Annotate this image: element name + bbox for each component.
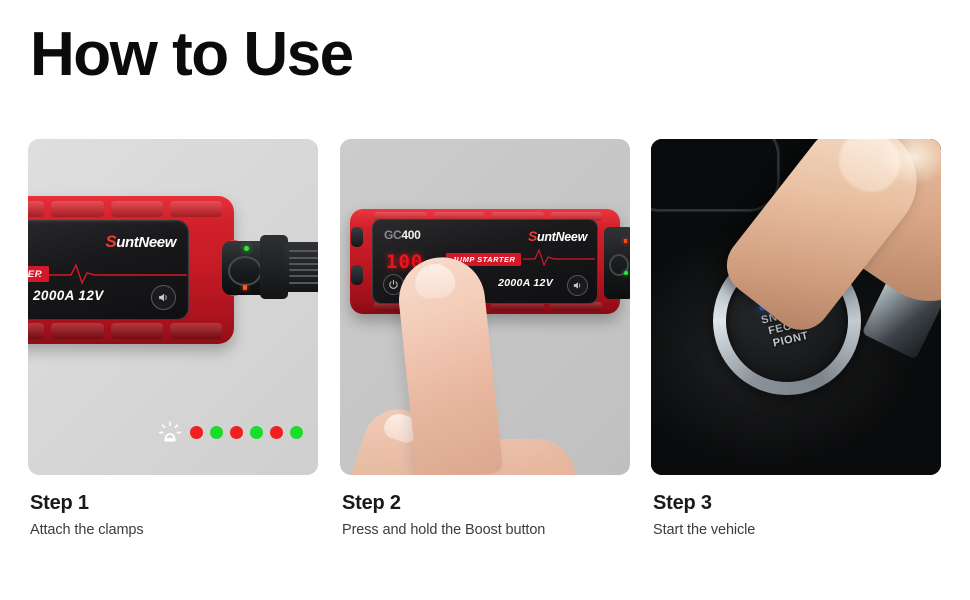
brand-logo: SuntNeew xyxy=(105,232,176,252)
caption-step-1: Step 1 Attach the clamps xyxy=(30,492,330,538)
model-number: 400 xyxy=(401,228,420,242)
clamp-ring xyxy=(228,256,262,286)
steps-panel-row: SuntNeew STARTER 2000A 12V xyxy=(0,139,970,475)
power-glyph xyxy=(388,279,399,290)
step-label: Step 3 xyxy=(653,492,953,515)
device-faceplate: SuntNeew STARTER 2000A 12V xyxy=(28,220,189,320)
light-glare xyxy=(879,139,941,185)
caption-step-3: Step 3 Start the vehicle xyxy=(653,492,953,538)
device-model: GC400 xyxy=(384,228,421,242)
device-grip-bottom xyxy=(28,323,222,339)
step-label: Step 2 xyxy=(342,492,642,515)
device2-side-button-top[interactable] xyxy=(351,227,363,247)
speaker-glyph xyxy=(157,291,170,304)
clamp-connector xyxy=(604,227,630,299)
led-dot xyxy=(270,426,283,439)
led-dot xyxy=(210,426,223,439)
jump-starter-device-side: SuntNeew STARTER 2000A 12V xyxy=(28,196,234,344)
battery-led-indicator xyxy=(157,420,303,444)
page-title: How to Use xyxy=(30,22,353,87)
led-dot xyxy=(250,426,263,439)
device-specs: 2000A 12V xyxy=(33,288,104,303)
speaker-flashlight-icon[interactable] xyxy=(151,285,176,310)
clamp-orange-led-icon xyxy=(243,285,247,290)
model-prefix: GC xyxy=(384,228,401,242)
speaker-glyph xyxy=(572,280,583,291)
how-to-use-page: How to Use SuntNeew STARTER 2000A 12V xyxy=(0,0,970,600)
panel-attach-clamps: SuntNeew STARTER 2000A 12V xyxy=(28,139,318,475)
dashboard-trim xyxy=(651,139,779,211)
clamp-green-led-icon xyxy=(624,271,628,275)
brand-initial: S xyxy=(528,228,537,244)
clamp-orange-led-icon xyxy=(624,239,627,243)
device2-side-button-bottom[interactable] xyxy=(351,265,363,285)
ecg-line-icon xyxy=(523,248,595,266)
clamp-fins xyxy=(284,242,318,292)
speaker-flashlight-icon[interactable] xyxy=(567,275,588,296)
step-description: Press and hold the Boost button xyxy=(342,522,642,538)
device-grip-top xyxy=(28,201,222,217)
clamp-connector xyxy=(222,233,318,303)
led-dot xyxy=(290,426,303,439)
device-specs: 2000A 12V xyxy=(498,277,553,289)
step-description: Attach the clamps xyxy=(30,522,330,538)
step-description: Start the vehicle xyxy=(653,522,953,538)
panel-start-vehicle: SNSTON FEORT PIONT xyxy=(651,139,941,475)
panel-press-boost: GC400 100 SuntNeew JUMP STARTER 2000A 12… xyxy=(340,139,630,475)
step-label: Step 1 xyxy=(30,492,330,515)
ecg-line-icon xyxy=(39,261,187,285)
clamp-green-led-icon xyxy=(244,246,249,251)
led-dot xyxy=(230,426,243,439)
brand-rest: untNeew xyxy=(537,230,587,244)
led-dot xyxy=(190,426,203,439)
brand-initial: S xyxy=(105,232,116,251)
caption-step-2: Step 2 Press and hold the Boost button xyxy=(342,492,642,538)
brand-logo: SuntNeew xyxy=(528,228,587,244)
siren-beacon-icon xyxy=(157,420,183,444)
brand-rest: untNeew xyxy=(116,234,176,251)
